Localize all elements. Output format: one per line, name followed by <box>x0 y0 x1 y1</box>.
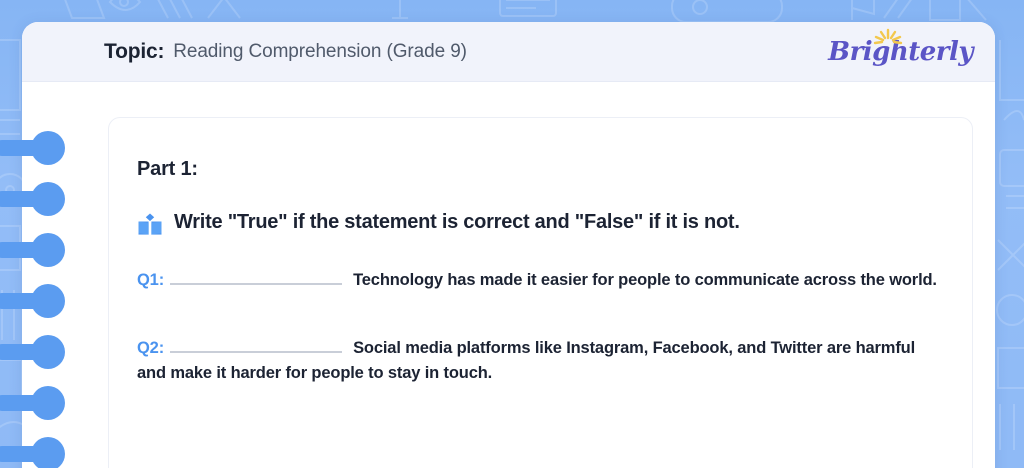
topic-value: Reading Comprehension (Grade 9) <box>173 41 467 63</box>
question-answer-blank[interactable] <box>170 337 342 353</box>
sunburst-icon <box>872 27 904 47</box>
question-number: Q1: <box>137 271 164 289</box>
open-book-icon <box>137 212 163 238</box>
question-answer-blank[interactable] <box>170 269 342 285</box>
worksheet-card: Topic: Reading Comprehension (Grade 9) B… <box>22 22 995 468</box>
question-item: Q2:Social media platforms like Instagram… <box>137 336 942 387</box>
question-text: Technology has made it easier for people… <box>353 271 937 289</box>
content-card: Part 1: Write "True" if the statement is… <box>108 117 973 468</box>
card-header: Topic: Reading Comprehension (Grade 9) B… <box>22 22 995 82</box>
instruction-text: Write "True" if the statement is correct… <box>174 210 740 235</box>
question-item: Q1:Technology has made it easier for peo… <box>137 268 942 294</box>
instruction-row: Write "True" if the statement is correct… <box>137 210 942 238</box>
topic-label: Topic: <box>104 40 164 64</box>
worksheet-page: Topic: Reading Comprehension (Grade 9) B… <box>0 0 1024 468</box>
question-number: Q2: <box>137 339 164 357</box>
brighterly-logo: Brighterly <box>828 30 973 74</box>
part-title: Part 1: <box>137 158 942 181</box>
